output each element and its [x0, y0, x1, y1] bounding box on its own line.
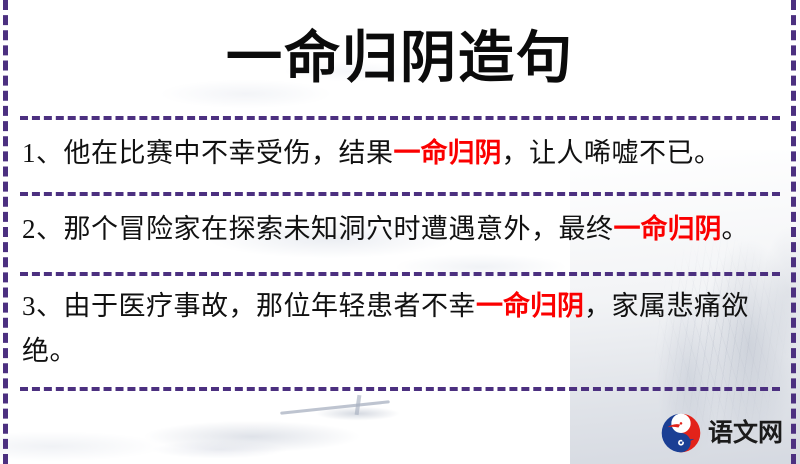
sentence-text-after: 。	[722, 214, 750, 244]
border-dashed-right	[791, 0, 796, 464]
divider-dashed-after-sentence-3	[20, 387, 780, 391]
border-dashed-left	[3, 0, 8, 464]
yinyang-fish-circle-icon	[660, 412, 702, 454]
divider-dashed-after-sentence-1	[20, 192, 780, 196]
sentence-index: 1、	[22, 138, 64, 168]
keyword-highlight: 一命归阴	[614, 214, 722, 245]
sentence-index: 3、	[22, 291, 64, 321]
list-item: 3、由于医疗事故，那位年轻患者不幸一命归阴，家属悲痛欲绝。	[22, 284, 778, 373]
sentence-text-before: 由于医疗事故，那位年轻患者不幸	[64, 291, 477, 321]
keyword-highlight: 一命归阴	[394, 138, 502, 169]
divider-dashed-after-sentence-2	[20, 272, 780, 276]
list-item: 1、他在比赛中不幸受伤，结果一命归阴，让人唏嘘不已。	[22, 131, 778, 176]
list-item: 2、那个冒险家在探索未知洞穴时遭遇意外，最终一命归阴。	[22, 207, 778, 252]
sentence-text-before: 他在比赛中不幸受伤，结果	[64, 138, 394, 168]
sentence-text-before: 那个冒险家在探索未知洞穴时遭遇意外，最终	[64, 214, 614, 244]
keyword-highlight: 一命归阴	[476, 291, 584, 322]
ink-wash-boat-watermark	[120, 392, 450, 464]
site-logo-text: 语文网	[708, 412, 783, 454]
divider-dashed-under-title	[20, 116, 780, 120]
sentence-index: 2、	[22, 214, 64, 244]
ink-wash-watermark-bottom-left	[0, 420, 260, 464]
document-page: 一命归阴造句 1、他在比赛中不幸受伤，结果一命归阴，让人唏嘘不已。 2、那个冒险…	[0, 0, 800, 464]
page-title: 一命归阴造句	[0, 22, 800, 94]
sentence-text-after: ，让人唏嘘不已。	[502, 138, 722, 168]
site-logo[interactable]: 语文网	[660, 410, 790, 456]
